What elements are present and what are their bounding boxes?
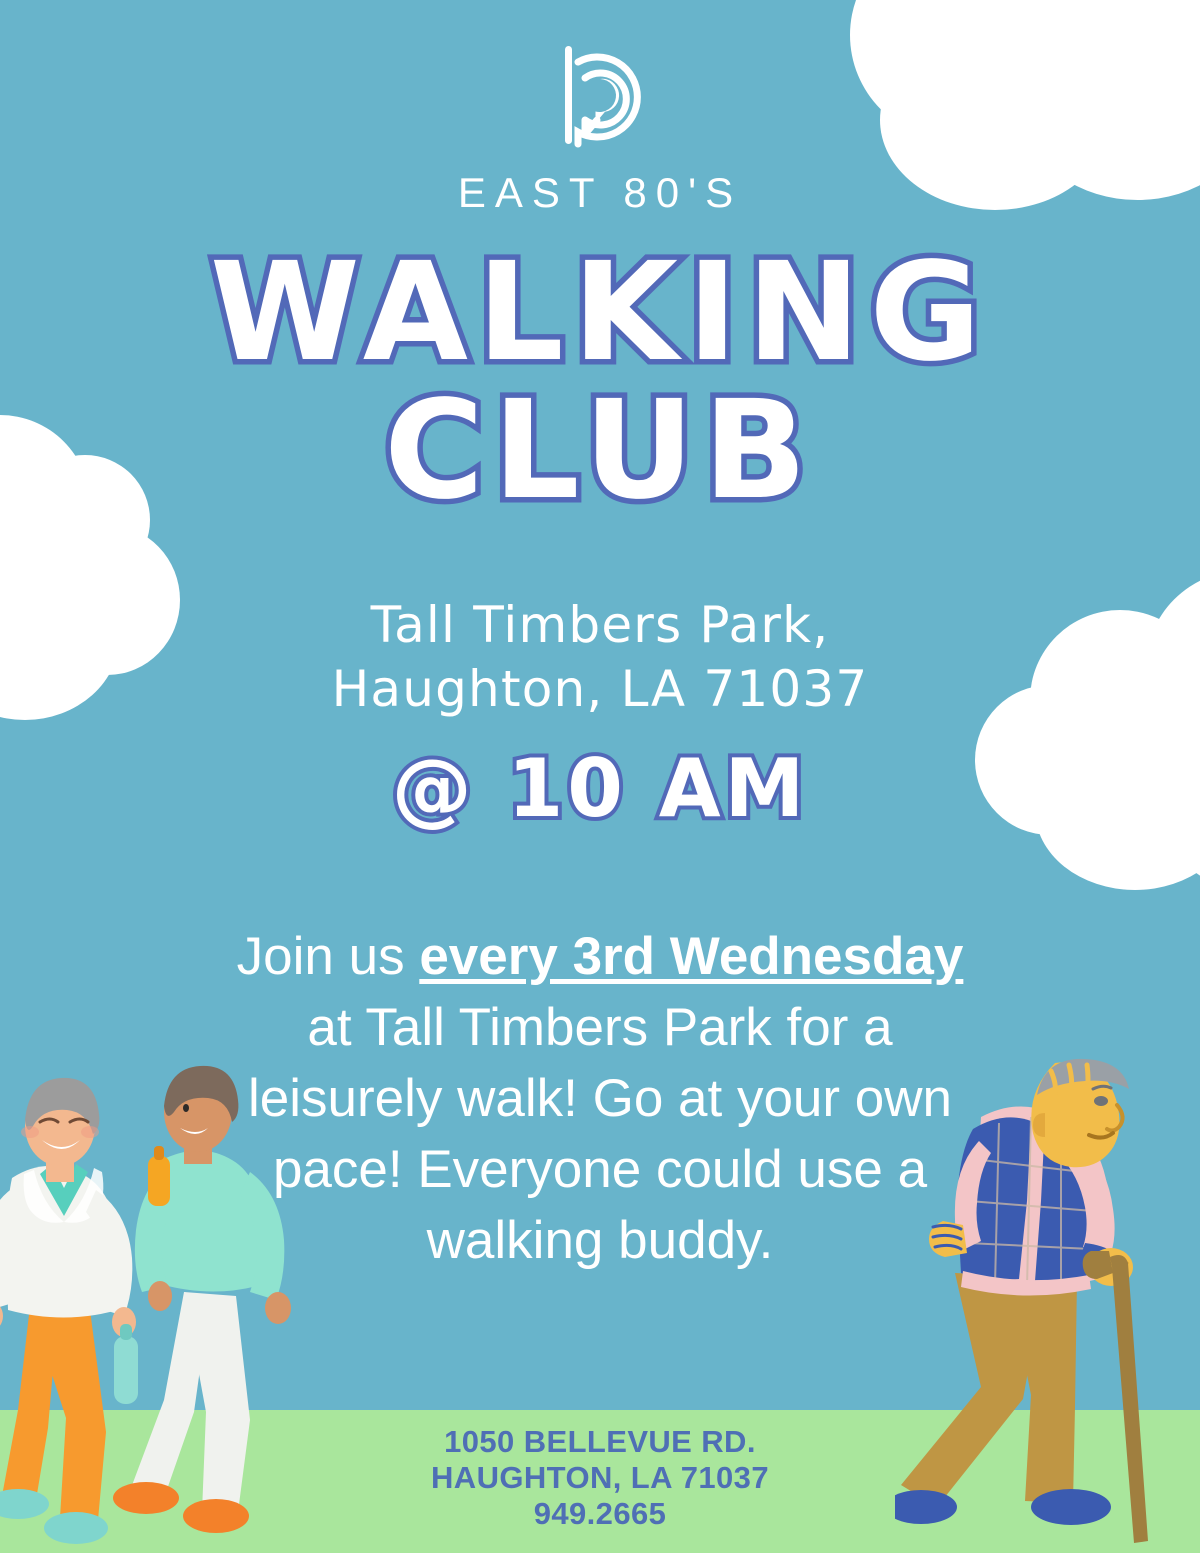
description-before: Join us [237, 927, 420, 986]
title-line-1: WALKING [0, 248, 1200, 380]
footer-contact: 1050 BELLEVUE RD. HAUGHTON, LA 71037 949… [0, 1424, 1200, 1532]
title-line-2: CLUB [0, 386, 1200, 518]
brand-name: EAST 80'S [0, 169, 1200, 217]
logo-block: EAST 80'S [0, 40, 1200, 217]
footer-city-state-zip: HAUGHTON, LA 71037 [0, 1460, 1200, 1496]
page-title: WALKING CLUB [0, 248, 1200, 518]
event-time: @ 10 AM [0, 742, 1200, 835]
description-after: at Tall Timbers Park for a leisurely wal… [248, 998, 952, 1270]
venue-line-2: Haughton, LA 71037 [0, 658, 1200, 722]
footer-street: 1050 BELLEVUE RD. [0, 1424, 1200, 1460]
east-80s-b-speech-bubble-logo-icon [545, 40, 655, 150]
flyer-poster: EAST 80'S WALKING CLUB Tall Timbers Park… [0, 0, 1200, 1553]
venue-location: Tall Timbers Park, Haughton, LA 71037 [0, 594, 1200, 721]
description-emphasis: every 3rd Wednesday [419, 927, 963, 986]
footer-phone: 949.2665 [0, 1496, 1200, 1532]
venue-line-1: Tall Timbers Park, [0, 594, 1200, 658]
